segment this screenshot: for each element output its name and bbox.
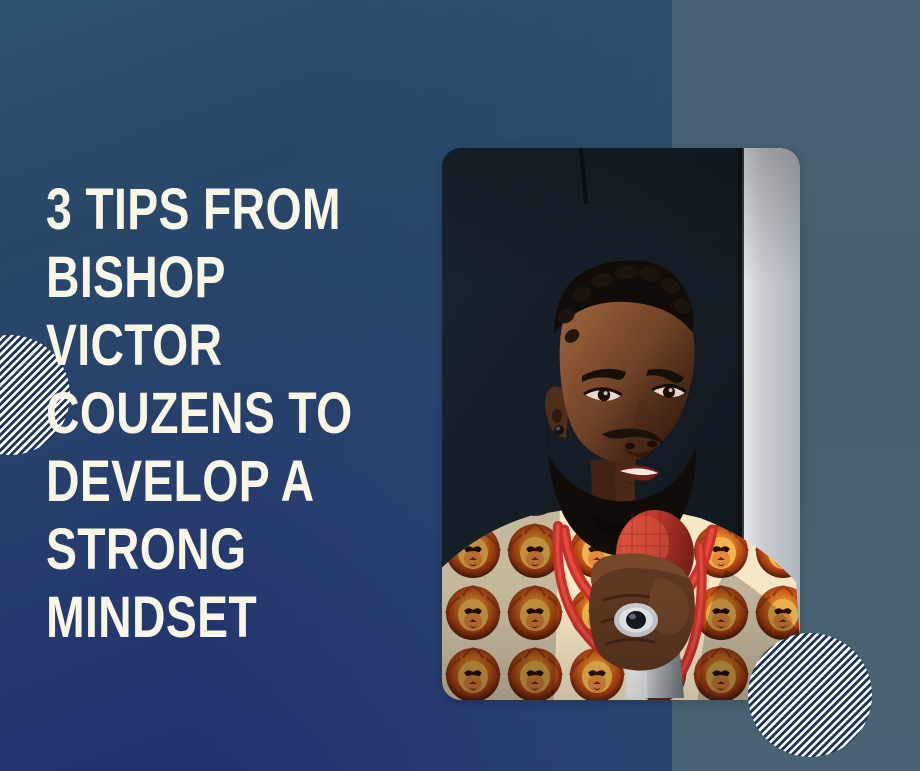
headline-line-2: BISHOP bbox=[46, 244, 350, 312]
headline-line-3: VICTOR bbox=[46, 312, 350, 380]
speaker-portrait-image bbox=[442, 148, 800, 700]
poster-headline: 3 TIPS FROM BISHOP VICTOR COUZENS TO DEV… bbox=[46, 176, 350, 652]
poster-canvas: 3 TIPS FROM BISHOP VICTOR COUZENS TO DEV… bbox=[0, 0, 920, 771]
headline-line-5: DEVELOP A bbox=[46, 448, 350, 516]
headline-line-1: 3 TIPS FROM bbox=[46, 176, 350, 244]
headline-line-4: COUZENS TO bbox=[46, 380, 350, 448]
headline-line-6: STRONG bbox=[46, 516, 350, 584]
headline-line-7: MINDSET bbox=[46, 584, 350, 652]
striped-circle-bottom-right-decoration bbox=[748, 633, 872, 757]
speaker-photo-card bbox=[442, 148, 800, 700]
